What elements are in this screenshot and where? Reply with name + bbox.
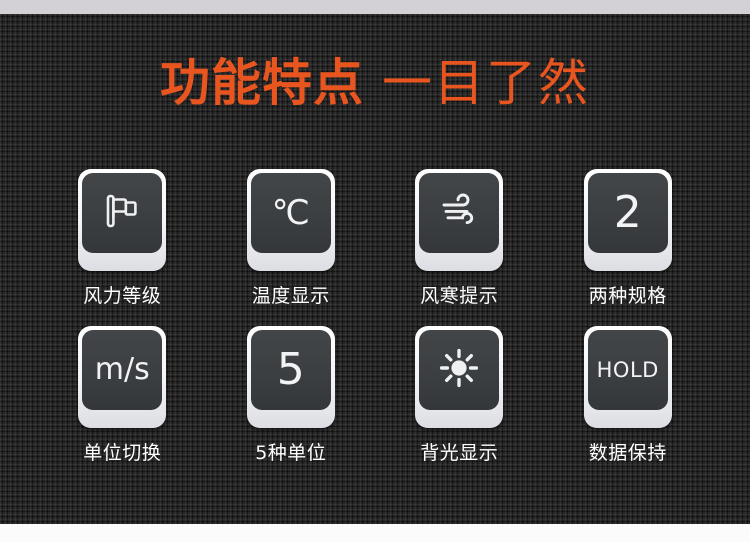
wind-icon [436,188,482,239]
keycap-face [419,330,499,410]
hold-icon: HOLD [597,360,659,381]
feature-item-wind-chill: 风寒提示 [375,169,544,308]
flag-icon [99,188,145,239]
feature-item-wind-level: 风力等级 [38,169,207,308]
meters-per-second-icon: m/s [95,355,150,385]
feature-keycap: 2 [584,169,672,271]
keycap-face: HOLD [588,330,668,410]
feature-label: 温度显示 [252,281,330,308]
bottom-divider-band [0,524,750,542]
keycap-face: 5 [251,330,331,410]
feature-label: 风寒提示 [420,281,498,308]
page-title: 功能特点一目了然 [0,58,750,108]
feature-grid: 风力等级 ℃ 温度显示 [38,169,712,465]
feature-keycap: HOLD [584,326,672,428]
feature-item-five-units: 5 5种单位 [207,326,376,465]
dark-textured-stage: 功能特点一目了然 [0,14,750,524]
top-divider-band [0,0,750,14]
feature-label: 风力等级 [83,281,161,308]
feature-label: 背光显示 [420,438,498,465]
keycap-face: m/s [82,330,162,410]
number-two-icon: 2 [614,191,642,235]
sun-brightness-icon [436,345,482,396]
keycap-face [82,173,162,253]
feature-item-unit-switch: m/s 单位切换 [38,326,207,465]
feature-label: 单位切换 [83,438,161,465]
feature-item-two-models: 2 两种规格 [544,169,713,308]
feature-label: 数据保持 [589,438,667,465]
number-five-icon: 5 [277,348,305,392]
page-title-bold: 功能特点 [160,54,364,112]
feature-label: 两种规格 [589,281,667,308]
celsius-degree-icon: ℃ [272,196,310,230]
feature-keycap: 5 [247,326,335,428]
feature-keycap [415,326,503,428]
feature-item-backlight: 背光显示 [375,326,544,465]
page-title-light: 一目了然 [382,54,590,112]
feature-label: 5种单位 [255,438,326,465]
keycap-face: ℃ [251,173,331,253]
keycap-face: 2 [588,173,668,253]
feature-item-temperature: ℃ 温度显示 [207,169,376,308]
promo-banner: 功能特点一目了然 [0,0,750,542]
feature-item-data-hold: HOLD 数据保持 [544,326,713,465]
feature-keycap: ℃ [247,169,335,271]
feature-keycap [415,169,503,271]
feature-keycap [78,169,166,271]
keycap-face [419,173,499,253]
feature-keycap: m/s [78,326,166,428]
